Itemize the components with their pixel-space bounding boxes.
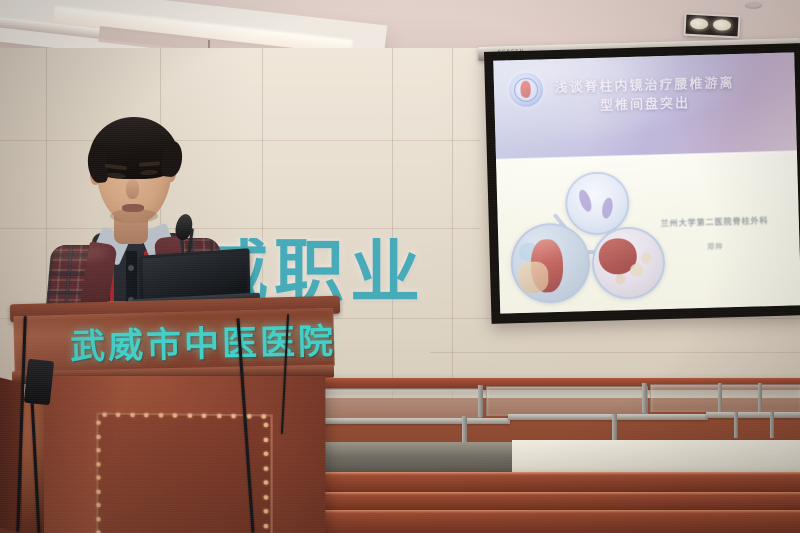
molecule-node-right bbox=[591, 226, 666, 301]
podium-cable-connector bbox=[24, 359, 54, 405]
stud bbox=[246, 414, 250, 418]
rail-post bbox=[770, 412, 774, 438]
node-detail bbox=[517, 262, 548, 293]
presentation-room-photo: 威职业 SCREEN 浅谈脊柱内镜治疗腰椎游离 型椎间盘突出 bbox=[0, 0, 800, 533]
projection-screen: 浅谈脊柱内镜治疗腰椎游离 型椎间盘突出 bbox=[484, 43, 800, 324]
chin-shadow bbox=[110, 209, 158, 223]
stud bbox=[96, 503, 100, 507]
stud bbox=[96, 517, 100, 521]
seating-glass-panel bbox=[486, 386, 648, 416]
rail-post bbox=[478, 385, 483, 417]
projection-screen-surface: 浅谈脊柱内镜治疗腰椎游离 型椎间盘突出 bbox=[493, 52, 800, 313]
stud bbox=[264, 480, 269, 484]
stud bbox=[264, 495, 269, 499]
stud bbox=[96, 421, 100, 425]
stud bbox=[261, 414, 265, 418]
stud bbox=[103, 413, 107, 417]
node-detail bbox=[615, 274, 626, 285]
stud bbox=[159, 413, 163, 417]
stud bbox=[187, 414, 191, 418]
stud bbox=[264, 509, 269, 513]
stud bbox=[231, 414, 235, 418]
dual-spotlight-fixture bbox=[683, 13, 740, 39]
stud bbox=[173, 413, 177, 417]
rail-post bbox=[462, 416, 467, 444]
rail-post bbox=[758, 383, 762, 413]
stud bbox=[96, 489, 100, 493]
molecule-graphic bbox=[508, 170, 668, 301]
seating-glass-panel bbox=[650, 384, 800, 412]
stud bbox=[96, 476, 100, 480]
stud bbox=[96, 462, 100, 466]
rail-post bbox=[718, 383, 722, 413]
podium-hospital-name: 武威市中医医院 bbox=[69, 313, 336, 370]
bench-highlight bbox=[290, 472, 800, 475]
rail-post bbox=[612, 414, 617, 440]
molecule-node-left bbox=[510, 223, 591, 304]
node-detail bbox=[600, 197, 614, 220]
seating-desk-light bbox=[512, 440, 800, 472]
stud bbox=[96, 448, 100, 452]
stud bbox=[264, 466, 269, 470]
node-detail bbox=[577, 188, 594, 213]
power-cable bbox=[31, 400, 41, 533]
bench-highlight bbox=[288, 492, 800, 495]
stud bbox=[264, 423, 269, 427]
stud bbox=[217, 414, 221, 418]
stud bbox=[144, 413, 148, 417]
laptop-screen bbox=[143, 251, 247, 299]
nose bbox=[126, 179, 139, 199]
bench-front-mid bbox=[288, 492, 800, 510]
podium: 武威市中医医院 bbox=[8, 300, 348, 533]
node-detail bbox=[641, 253, 652, 264]
bench-front-top bbox=[290, 472, 800, 492]
slide-title: 浅谈脊柱内镜治疗腰椎游离 型椎间盘突出 bbox=[515, 73, 775, 118]
wall-seam bbox=[430, 352, 800, 353]
wall-seam bbox=[392, 48, 393, 400]
stud bbox=[202, 414, 206, 418]
shoulder-highlight bbox=[48, 245, 108, 261]
spotlight-bulb-right bbox=[713, 19, 732, 31]
stud-row-top bbox=[103, 413, 266, 419]
molecule-node-top bbox=[565, 171, 630, 236]
hair-side-right bbox=[160, 140, 184, 178]
node-detail bbox=[630, 264, 643, 277]
seating-metal-rail bbox=[706, 412, 800, 418]
wall-seam bbox=[452, 48, 453, 400]
stud bbox=[264, 437, 269, 441]
stud bbox=[264, 452, 269, 456]
stud bbox=[130, 413, 134, 417]
stud bbox=[116, 413, 120, 417]
stud bbox=[264, 523, 269, 527]
stud-row-left bbox=[96, 421, 100, 533]
stud-row-right bbox=[264, 423, 269, 533]
bench-front-bottom bbox=[286, 510, 800, 533]
seating-metal-rail bbox=[508, 414, 708, 420]
shirt-button bbox=[128, 265, 134, 271]
smoke-detector-icon bbox=[745, 2, 762, 9]
rail-post bbox=[642, 383, 647, 413]
stud bbox=[96, 434, 100, 438]
spotlight-bulb-left bbox=[690, 18, 709, 30]
rail-post bbox=[734, 412, 738, 438]
bench-highlight bbox=[286, 510, 800, 513]
